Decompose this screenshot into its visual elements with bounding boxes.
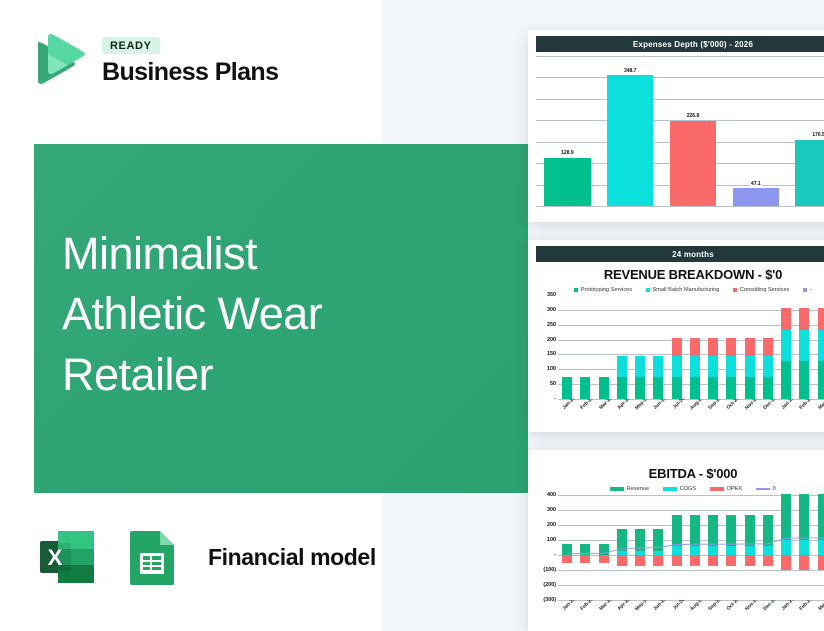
revenue-y-axis: 35030025020015010050- [536, 295, 558, 399]
x-tick: Apr-26 [613, 399, 631, 425]
play-triangle-logo-icon [28, 30, 90, 92]
legend-line-swatch [756, 488, 770, 490]
expenses-bars: 128.9348.7226.847.1176.5 [536, 56, 824, 206]
bar-segment [799, 308, 809, 330]
legend-label: 0 [773, 486, 776, 492]
y-tick-label: 200 [547, 522, 556, 528]
x-tick: Jul-26 [668, 600, 686, 626]
legend-item: COGS [663, 486, 696, 492]
bar-segment [635, 377, 645, 399]
brand-logo-text: READY Business Plans [102, 36, 278, 87]
chart-card-ebitda: EBITDA - $'000 RevenueCOGSOPEX0 40030020… [528, 450, 824, 631]
y-tick-label: 50 [550, 381, 556, 387]
page-title: Minimalist Athletic Wear Retailer [62, 224, 492, 405]
bar-segment [690, 356, 700, 377]
y-tick-label: 300 [547, 507, 556, 513]
financial-model-label: Financial model [208, 544, 376, 571]
y-tick-label: 200 [547, 337, 556, 343]
bar [670, 121, 716, 206]
y-tick-label: 350 [547, 292, 556, 298]
stacked-bar [672, 338, 682, 399]
x-tick: Aug-26 [686, 600, 704, 626]
y-tick-label: 100 [547, 366, 556, 372]
x-tick: Dec-26 [759, 600, 777, 626]
bar-segment [745, 377, 755, 399]
bar-group: 176.5 [787, 56, 824, 206]
x-tick-label: Mar-26 [598, 399, 614, 411]
revenue-plot-body [558, 295, 824, 399]
chart-card-expenses: Expenses Depth ($'000) - 2026 128.9348.7… [528, 30, 824, 222]
x-tick-label: Dec-26 [762, 399, 778, 411]
bar-group: 226.8 [662, 56, 725, 206]
bar-group [722, 295, 740, 399]
brand-name: Business Plans [102, 58, 278, 87]
legend-item: Consulting Services [733, 287, 789, 293]
x-tick-label: Mar-27 [817, 600, 824, 612]
y-tick-label: - [554, 552, 556, 558]
bar-segment [781, 330, 791, 361]
legend-swatch [733, 288, 737, 292]
bar-group: 47.1 [724, 56, 787, 206]
footer-row: X Financial model [32, 521, 376, 593]
stacked-bar [690, 338, 700, 399]
x-tick: Jan-26 [558, 399, 576, 425]
y-tick-label: - [554, 396, 556, 402]
stacked-bar [580, 377, 590, 399]
x-tick-label: Nov-26 [744, 399, 760, 411]
bar-segment [690, 338, 700, 356]
x-tick: Oct-26 [722, 399, 740, 425]
legend-swatch [710, 487, 724, 491]
legend-label: Small Batch Manufacturing [653, 287, 720, 293]
bar-group [795, 295, 813, 399]
bar-segment [653, 356, 663, 377]
x-tick: Oct-26 [722, 600, 740, 626]
hero-title-line-1: Minimalist [62, 224, 492, 284]
x-tick-label: Sep-26 [707, 600, 723, 612]
bar-segment [635, 356, 645, 377]
y-tick-label: 300 [547, 307, 556, 313]
microsoft-excel-icon: X [32, 521, 104, 593]
bar-value-label: 47.1 [750, 181, 762, 187]
bar-segment [672, 338, 682, 356]
stacked-bar [635, 356, 645, 399]
x-tick-label: Oct-26 [726, 600, 741, 612]
x-tick-label: Mar-26 [598, 600, 614, 612]
x-tick: May-26 [631, 399, 649, 425]
y-tick-label: (200) [543, 582, 556, 588]
bar-group [759, 295, 777, 399]
y-tick-label: 100 [547, 537, 556, 543]
hero-title-line-3: Retailer [62, 345, 492, 405]
legend-label: Revenue [627, 486, 649, 492]
stacked-bar [818, 308, 824, 399]
legend-swatch [646, 288, 650, 292]
bar [544, 158, 590, 206]
bar-segment [745, 356, 755, 377]
legend-label: Prototyping Services [581, 287, 632, 293]
bar-segment [799, 361, 809, 399]
expenses-chart-plot: 128.9348.7226.847.1176.5 [536, 56, 824, 206]
bar-group: 348.7 [599, 56, 662, 206]
stacked-bar [726, 338, 736, 399]
stacked-bar [562, 377, 572, 399]
legend-label: - [810, 287, 812, 293]
bar-segment [726, 338, 736, 356]
legend-item: 0 [756, 486, 776, 492]
bar-segment [708, 377, 718, 399]
revenue-chart-header: 24 months [536, 246, 824, 262]
revenue-bars [558, 295, 824, 399]
bar-segment [708, 356, 718, 377]
x-tick: Feb-26 [576, 399, 594, 425]
bar-segment [708, 338, 718, 356]
x-tick-label: Sep-26 [707, 399, 723, 411]
bar-group: 128.9 [536, 56, 599, 206]
legend-swatch [663, 487, 677, 491]
bar-segment [818, 330, 824, 361]
ebitda-zero-line-series [558, 495, 824, 600]
y-tick-label: 400 [547, 492, 556, 498]
hero-block: Minimalist Athletic Wear Retailer [34, 144, 528, 493]
x-tick-label: Apr-26 [616, 399, 631, 411]
bar-segment [763, 377, 773, 399]
x-tick: Jan-27 [777, 399, 795, 425]
x-tick-label: May-26 [634, 399, 650, 411]
stacked-bar [763, 338, 773, 399]
x-tick-label: Feb-26 [580, 399, 596, 411]
bar-group [613, 295, 631, 399]
x-tick: Sep-26 [704, 399, 722, 425]
legend-swatch [803, 288, 807, 292]
x-tick: Mar-26 [595, 399, 613, 425]
x-tick: Feb-26 [576, 600, 594, 626]
bar-segment [617, 377, 627, 399]
legend-item: - [803, 287, 811, 293]
x-tick-label: Aug-26 [689, 600, 705, 612]
x-tick-label: Jan-27 [781, 399, 796, 411]
x-tick-label: Aug-26 [689, 399, 705, 411]
x-tick-label: Nov-26 [744, 600, 760, 612]
stacked-bar [799, 308, 809, 399]
stacked-bar [708, 338, 718, 399]
x-tick: Jul-26 [668, 399, 686, 425]
bar-segment [672, 356, 682, 377]
bar-value-label: 226.8 [686, 113, 701, 119]
stacked-bar [745, 338, 755, 399]
bar-group [686, 295, 704, 399]
bar-group [704, 295, 722, 399]
bar-segment [599, 377, 609, 399]
x-tick-label: Dec-26 [762, 600, 778, 612]
bar-value-label: 176.5 [811, 132, 824, 138]
zero-line-path [567, 538, 824, 554]
y-tick-label: 250 [547, 322, 556, 328]
x-tick-label: Jul-26 [672, 399, 686, 410]
ebitda-chart-title: EBITDA - $'000 [536, 466, 824, 481]
legend-item: Small Batch Manufacturing [646, 287, 719, 293]
y-tick-label: (300) [543, 597, 556, 603]
bar [795, 140, 824, 206]
bar-segment [763, 338, 773, 356]
ebitda-chart-legend: RevenueCOGSOPEX0 [536, 486, 824, 492]
x-tick-label: Jul-26 [672, 600, 686, 611]
x-tick: Nov-26 [741, 399, 759, 425]
expenses-chart-header: Expenses Depth ($'000) - 2026 [536, 36, 824, 52]
x-tick: Mar-26 [595, 600, 613, 626]
legend-label: Consulting Services [740, 287, 789, 293]
bar-group [576, 295, 594, 399]
y-tick-label: 150 [547, 351, 556, 357]
legend-label: OPEX [727, 486, 743, 492]
bar-segment [690, 377, 700, 399]
google-sheets-icon [116, 521, 188, 593]
legend-item: Prototyping Services [574, 287, 632, 293]
ebitda-chart-plot: 400300200100-(100)(200)(300) [536, 495, 824, 600]
stacked-bar [781, 308, 791, 399]
bar-group [558, 295, 576, 399]
bar-segment [562, 377, 572, 399]
bar-segment [617, 356, 627, 377]
revenue-chart-title: REVENUE BREAKDOWN - $'0 [536, 267, 824, 282]
x-tick: Mar-27 [814, 399, 824, 425]
bar-segment [763, 356, 773, 377]
stacked-bar [617, 356, 627, 399]
x-tick: Jan-26 [558, 600, 576, 626]
stacked-bar [599, 377, 609, 399]
bar [733, 188, 779, 206]
revenue-x-axis: Jan-26Feb-26Mar-26Apr-26May-26Jun-26Jul-… [558, 399, 824, 425]
x-tick: Nov-26 [741, 600, 759, 626]
x-tick: Jun-26 [649, 399, 667, 425]
bar-group [631, 295, 649, 399]
y-tick-label: (100) [543, 567, 556, 573]
x-tick-label: Feb-27 [799, 600, 815, 612]
x-tick-label: Oct-26 [726, 399, 741, 411]
x-tick-label: Mar-27 [817, 399, 824, 411]
bar-group [649, 295, 667, 399]
bar-segment [781, 308, 791, 330]
x-tick: Sep-26 [704, 600, 722, 626]
hero-title-line-2: Athletic Wear [62, 284, 492, 344]
bar-segment [672, 377, 682, 399]
legend-swatch [574, 288, 578, 292]
x-tick-label: May-26 [634, 600, 650, 612]
bar-group [777, 295, 795, 399]
bar-group [595, 295, 613, 399]
ready-badge: READY [102, 37, 160, 54]
gridline [536, 206, 824, 207]
legend-item: OPEX [710, 486, 742, 492]
bar-segment [799, 330, 809, 361]
x-tick: Jun-26 [649, 600, 667, 626]
x-tick-label: Feb-26 [580, 600, 596, 612]
bar-segment [818, 361, 824, 399]
x-tick-label: Jan-26 [562, 399, 577, 411]
x-tick: May-26 [631, 600, 649, 626]
x-tick-label: Jun-26 [653, 399, 669, 411]
bar-group [741, 295, 759, 399]
x-tick-label: Apr-26 [616, 600, 631, 612]
x-tick-label: Jun-26 [653, 600, 669, 612]
ebitda-y-axis: 400300200100-(100)(200)(300) [536, 495, 558, 600]
x-tick-label: Jan-26 [562, 600, 577, 612]
x-tick-label: Jan-27 [781, 600, 796, 612]
bar-segment [580, 377, 590, 399]
x-tick: Mar-27 [814, 600, 824, 626]
bar-group [814, 295, 824, 399]
bar-segment [745, 338, 755, 356]
poster-canvas: READY Business Plans Minimalist Athletic… [0, 0, 824, 631]
bar-segment [726, 377, 736, 399]
legend-label: COGS [680, 486, 696, 492]
revenue-chart-plot: 35030025020015010050- [536, 295, 824, 399]
bar-segment [726, 356, 736, 377]
x-tick: Dec-26 [759, 399, 777, 425]
chart-card-revenue: 24 months REVENUE BREAKDOWN - $'0 Protot… [528, 240, 824, 432]
legend-swatch [610, 487, 624, 491]
ebitda-plot-body [558, 495, 824, 600]
bar-value-label: 128.9 [560, 150, 575, 156]
bar-group [668, 295, 686, 399]
stacked-bar [653, 356, 663, 399]
x-tick: Feb-27 [795, 600, 813, 626]
x-tick: Feb-27 [795, 399, 813, 425]
bar-segment [781, 361, 791, 399]
ebitda-x-axis: Jan-26Feb-26Mar-26Apr-26May-26Jun-26Jul-… [558, 600, 824, 626]
svg-text:X: X [48, 545, 63, 570]
x-tick: Jan-27 [777, 600, 795, 626]
revenue-chart-legend: Prototyping ServicesSmall Batch Manufact… [536, 287, 824, 293]
bar [607, 75, 653, 206]
bar-value-label: 348.7 [623, 68, 638, 74]
x-tick: Apr-26 [613, 600, 631, 626]
bar-segment [818, 308, 824, 330]
legend-item: Revenue [610, 486, 649, 492]
x-tick-label: Feb-27 [799, 399, 815, 411]
bar-segment [653, 377, 663, 399]
x-tick: Aug-26 [686, 399, 704, 425]
brand-logo: READY Business Plans [28, 30, 278, 92]
